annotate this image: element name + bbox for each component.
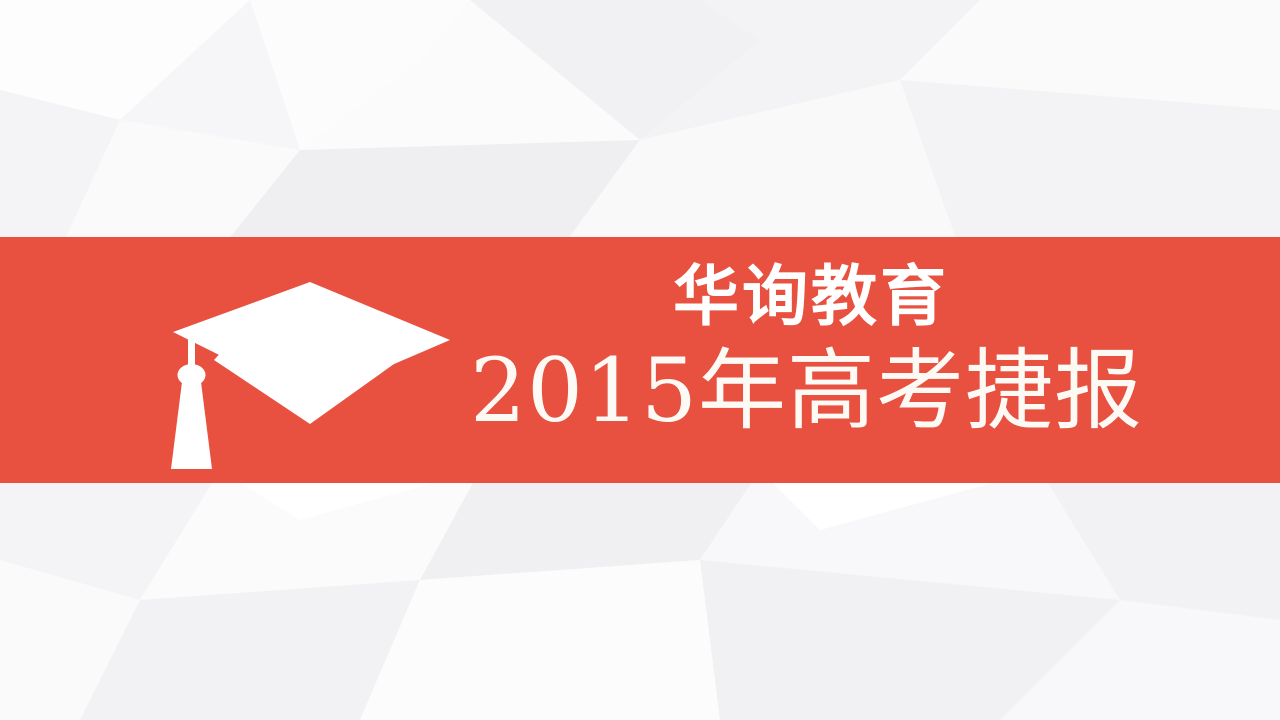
mortarboard-shape bbox=[173, 282, 450, 400]
tassel-fringe bbox=[171, 382, 212, 469]
graduation-cap-icon bbox=[160, 272, 470, 477]
title-block: 华询教育 2015年高考捷报 bbox=[470, 262, 1130, 477]
organization-title: 华询教育 bbox=[470, 262, 1130, 331]
slide-root: 华询教育 2015年高考捷报 bbox=[0, 0, 1280, 720]
headline-title: 2015年高考捷报 bbox=[470, 345, 1130, 437]
